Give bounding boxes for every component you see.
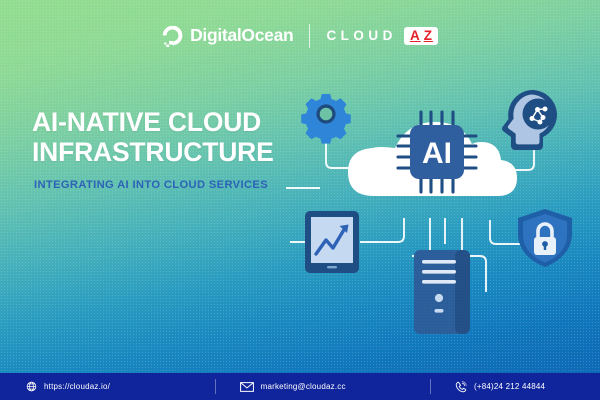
- digitalocean-wordmark: DigitalOcean: [190, 27, 293, 45]
- footer-phone[interactable]: (+84)24 212 44844: [431, 373, 600, 400]
- digitalocean-logo-icon: [162, 26, 183, 47]
- cloud-ai-illustration: AI: [290, 92, 600, 327]
- cloudaz-badge-a: A: [410, 29, 421, 43]
- cloudaz-logo: CLOUD A Z: [326, 27, 438, 45]
- hero-subtitle: INTEGRATING AI INTO CLOUD SERVICES: [34, 179, 322, 191]
- footer-phone-text: (+84)24 212 44844: [474, 382, 545, 391]
- envelope-icon: [240, 382, 254, 392]
- chart-tablet-icon: [305, 211, 359, 273]
- server-icon: [414, 250, 470, 334]
- page-title: AI-NATIVE CLOUD INFRASTRUCTURE: [32, 108, 322, 168]
- gear-icon: [301, 94, 351, 144]
- digitalocean-logo: DigitalOcean: [162, 26, 293, 47]
- logo-divider: [309, 24, 310, 48]
- marketing-banner: DigitalOcean CLOUD A Z AI-NATIVE CLOUD I…: [0, 0, 600, 400]
- footer-website-text: https://cloudaz.io/: [44, 382, 110, 391]
- phone-icon: [455, 381, 467, 393]
- contact-footer: https://cloudaz.io/ marketing@cloudaz.cc: [0, 373, 600, 400]
- footer-email[interactable]: marketing@cloudaz.cc: [216, 373, 430, 400]
- ai-chip-label: AI: [422, 137, 452, 170]
- logo-row: DigitalOcean CLOUD A Z: [0, 24, 600, 48]
- globe-icon: [26, 381, 37, 392]
- cloudaz-badge-z: Z: [424, 29, 433, 43]
- cloudaz-az-badge: A Z: [404, 27, 438, 45]
- footer-email-text: marketing@cloudaz.cc: [261, 382, 346, 391]
- brain-head-icon: [502, 90, 557, 150]
- footer-website[interactable]: https://cloudaz.io/: [0, 373, 215, 400]
- hero-copy: AI-NATIVE CLOUD INFRASTRUCTURE INTEGRATI…: [32, 108, 322, 191]
- shield-lock-icon: [518, 209, 572, 267]
- cloudaz-cloud-word: CLOUD: [326, 29, 397, 43]
